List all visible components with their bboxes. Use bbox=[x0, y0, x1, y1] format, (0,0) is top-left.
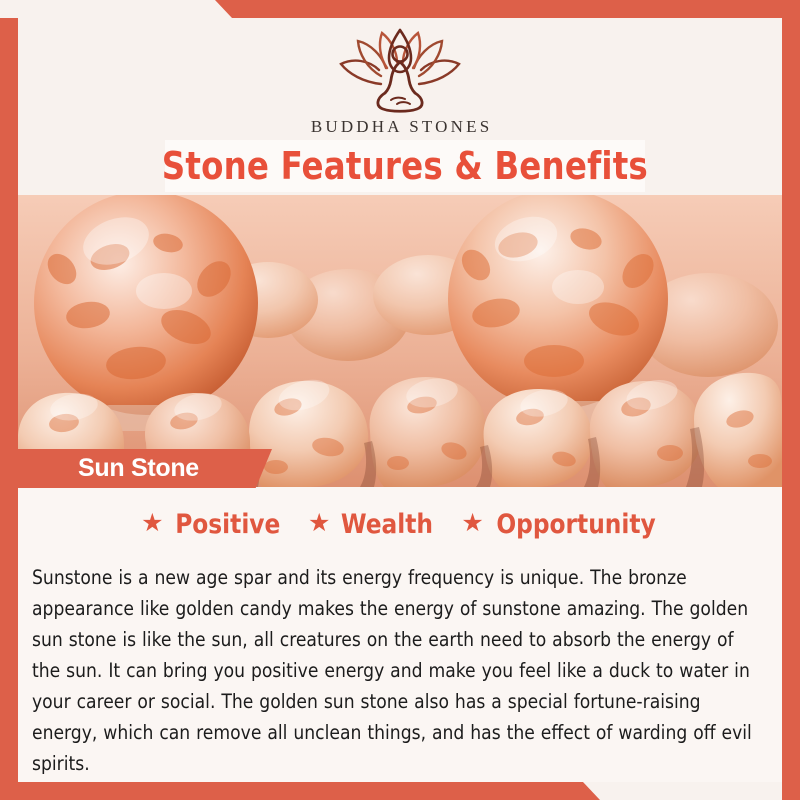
keyword-label: Opportunity bbox=[496, 509, 655, 540]
keyword-list: ★ Positive ★ Wealth ★ Opportunity bbox=[18, 487, 782, 540]
keyword-label: Wealth bbox=[341, 509, 433, 540]
sunstone-photo bbox=[18, 195, 782, 487]
title-plate: Stone Features & Benefits bbox=[165, 140, 645, 192]
brand-logo: BUDDHA STONES bbox=[18, 28, 782, 137]
frame-band-left bbox=[0, 18, 18, 800]
star-icon: ★ bbox=[461, 511, 483, 536]
stone-features-poster: BUDDHA STONES Stone Features & Benefits bbox=[0, 0, 800, 800]
star-icon: ★ bbox=[141, 511, 163, 536]
lotus-meditation-figure-icon bbox=[325, 28, 475, 114]
content-area: ★ Positive ★ Wealth ★ Opportunity Sunsto… bbox=[18, 487, 782, 782]
keyword-label: Positive bbox=[175, 509, 280, 540]
star-icon: ★ bbox=[308, 511, 330, 536]
description-paragraph: Sunstone is a new age spar and its energ… bbox=[32, 562, 753, 779]
frame-band-bottom bbox=[0, 782, 600, 800]
stone-name-ribbon: Sun Stone bbox=[0, 449, 272, 488]
page-title: Stone Features & Benefits bbox=[162, 144, 648, 188]
keyword-item-wealth: ★ Wealth bbox=[308, 509, 435, 540]
keyword-item-positive: ★ Positive bbox=[141, 509, 282, 540]
frame-band-top bbox=[215, 0, 800, 18]
frame-band-right bbox=[782, 0, 800, 800]
keyword-item-opportunity: ★ Opportunity bbox=[461, 509, 659, 540]
brand-name: BUDDHA STONES bbox=[308, 117, 493, 137]
stone-name-label: Sun Stone bbox=[78, 454, 199, 483]
